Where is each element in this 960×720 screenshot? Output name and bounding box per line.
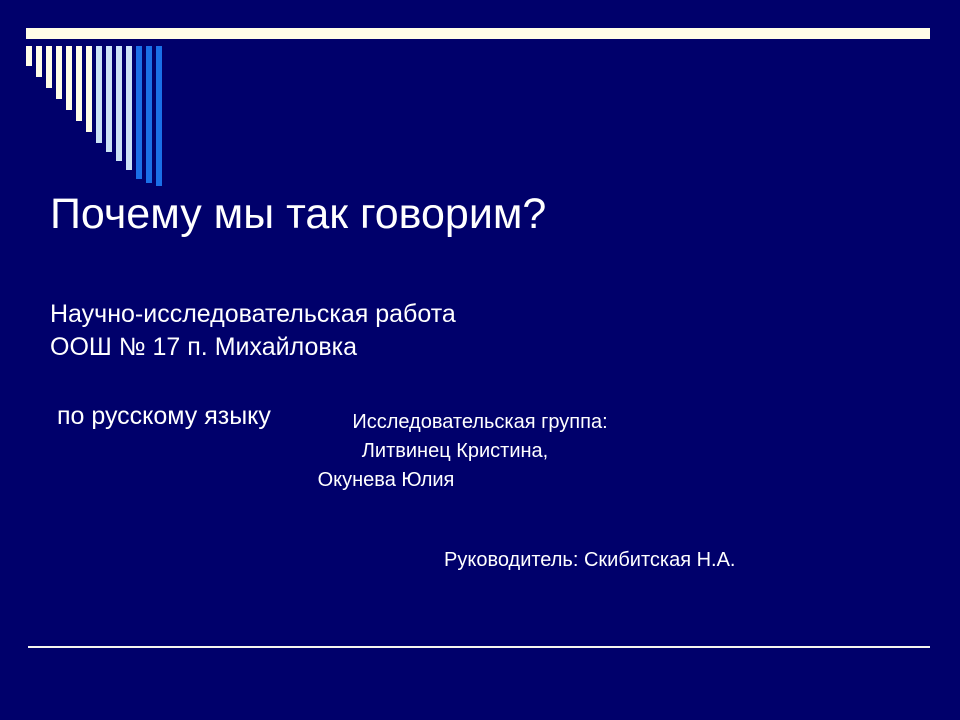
decorative-bar (36, 46, 42, 77)
decorative-bar (66, 46, 72, 110)
decorative-bar (136, 46, 142, 179)
decorative-bar (156, 46, 162, 186)
research-group-heading: Исследовательская группа: (270, 408, 690, 437)
decorative-bar (116, 46, 122, 161)
bottom-divider-line (28, 646, 930, 648)
decorative-bar (106, 46, 112, 152)
decorative-bar (146, 46, 152, 183)
decorative-bar-stack (26, 46, 166, 186)
top-accent-bar (26, 28, 930, 39)
supervisor-name: Руководитель: Скибитская Н.А. (444, 546, 735, 574)
decorative-bar (86, 46, 92, 132)
research-group-member: Литвинец Кристина, (270, 437, 690, 466)
school-name: ООШ № 17 п. Михайловка (50, 331, 357, 364)
decorative-bar (26, 46, 32, 66)
research-group-block: Исследовательская группа: Литвинец Крист… (270, 408, 690, 495)
decorative-bar (56, 46, 62, 99)
decorative-bar (96, 46, 102, 143)
decorative-bar (46, 46, 52, 88)
decorative-bar (126, 46, 132, 170)
subtitle-line-1: Научно-исследовательская работа (50, 297, 456, 331)
decorative-bar (76, 46, 82, 121)
presentation-title-slide: Почему мы так говорим? Научно-исследоват… (0, 0, 960, 720)
research-group-member: Окунева Юлия (270, 466, 690, 495)
